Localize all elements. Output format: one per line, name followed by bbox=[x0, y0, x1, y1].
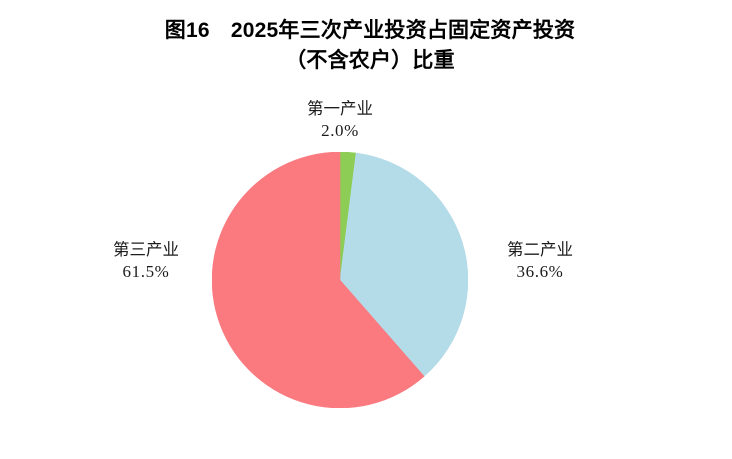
slice-label-tertiary-name: 第三产业 bbox=[76, 239, 216, 261]
slice-label-secondary-name: 第二产业 bbox=[470, 239, 610, 261]
slice-label-tertiary-value: 61.5% bbox=[76, 261, 216, 283]
slice-label-secondary: 第二产业 36.6% bbox=[470, 239, 610, 283]
slice-label-secondary-value: 36.6% bbox=[470, 261, 610, 283]
chart-title-line-1: 图16 2025年三次产业投资占固定资产投资 bbox=[8, 16, 732, 46]
slice-label-primary-value: 2.0% bbox=[248, 120, 432, 142]
slice-label-primary: 第一产业 2.0% bbox=[248, 98, 432, 142]
pie-chart bbox=[212, 152, 468, 408]
slice-label-primary-name: 第一产业 bbox=[248, 98, 432, 120]
pie-slice-group bbox=[212, 152, 468, 408]
chart-title: 图16 2025年三次产业投资占固定资产投资 （不含农户）比重 bbox=[0, 16, 732, 76]
slice-label-tertiary: 第三产业 61.5% bbox=[76, 239, 216, 283]
pie-chart-svg bbox=[212, 152, 468, 408]
chart-title-line-2: （不含农户）比重 bbox=[8, 46, 732, 76]
